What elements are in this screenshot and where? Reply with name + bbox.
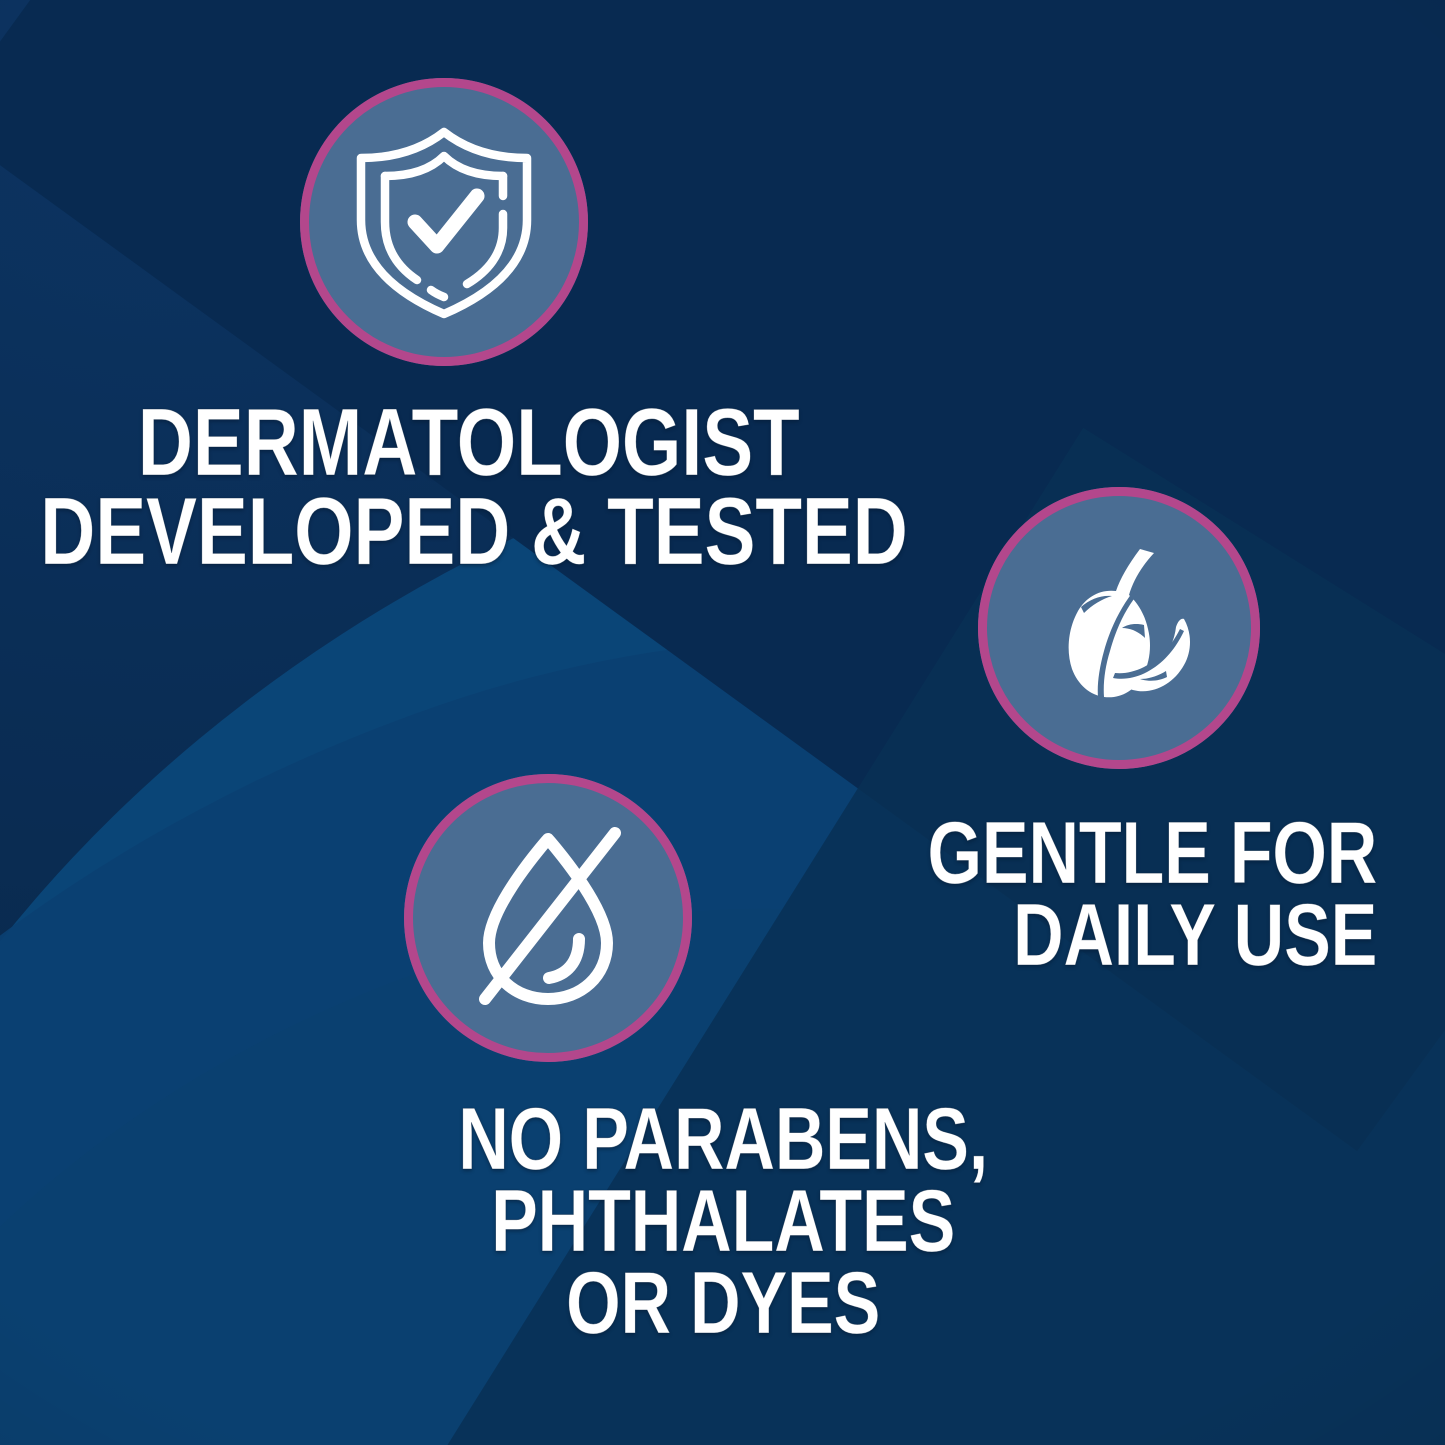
claim-no-parabens-line1: NO PARABENS, bbox=[458, 1098, 988, 1180]
claim-gentle-text: GENTLE FOR DAILY USE bbox=[927, 812, 1377, 976]
claim-dermatologist-text: DERMATOLOGIST DEVELOPED & TESTED bbox=[40, 398, 908, 577]
badge-dermatologist bbox=[300, 78, 588, 366]
feathers-icon bbox=[1024, 533, 1214, 723]
badge-gentle bbox=[978, 487, 1260, 769]
claim-no-parabens-line3: OR DYES bbox=[458, 1262, 988, 1344]
claim-dermatologist-line2: DEVELOPED & TESTED bbox=[40, 487, 908, 576]
claim-gentle-line2: DAILY USE bbox=[927, 894, 1377, 976]
claim-no-parabens-line2: PHTHALATES bbox=[458, 1180, 988, 1262]
badge-no-parabens bbox=[404, 774, 692, 1062]
shield-check-icon bbox=[349, 122, 539, 322]
claim-no-parabens-text: NO PARABENS, PHTHALATES OR DYES bbox=[458, 1098, 988, 1343]
claim-gentle-line1: GENTLE FOR bbox=[927, 812, 1377, 894]
no-droplet-icon bbox=[453, 821, 643, 1016]
product-claims-infographic: DERMATOLOGIST DEVELOPED & TESTED GENTLE … bbox=[0, 0, 1445, 1445]
claim-dermatologist-line1: DERMATOLOGIST bbox=[40, 398, 908, 487]
